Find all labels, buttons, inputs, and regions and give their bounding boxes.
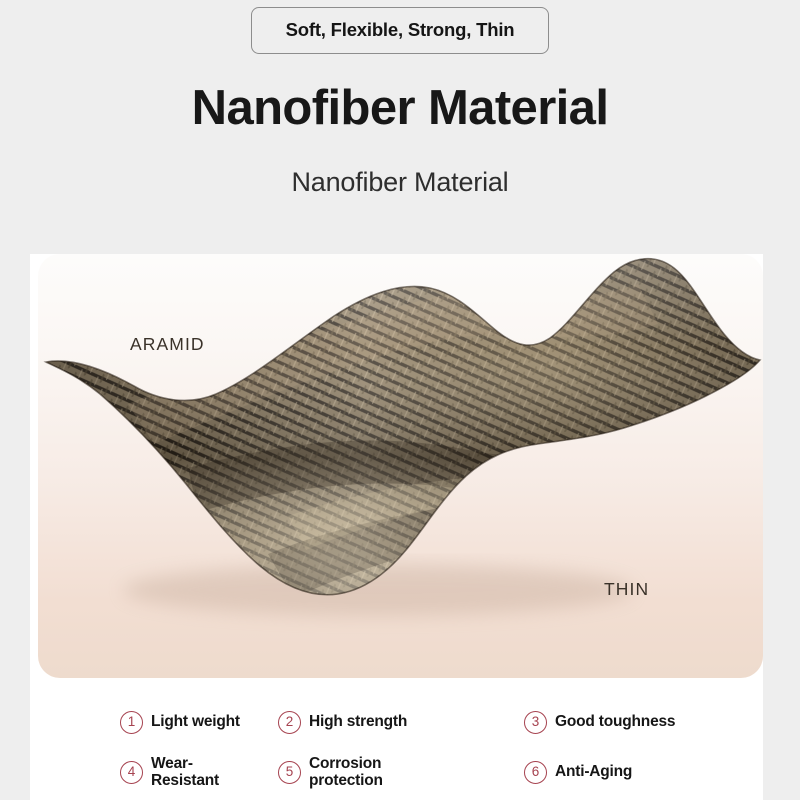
feature-number-badge: 5 bbox=[278, 761, 301, 784]
feature-label: Light weight bbox=[151, 713, 240, 730]
feature-label: Wear-Resistant bbox=[151, 755, 258, 790]
tagline-badge: Soft, Flexible, Strong, Thin bbox=[251, 7, 550, 54]
features-row-1: 1 Light weight 2 High strength 3 Good to… bbox=[30, 698, 763, 746]
nanofiber-fabric-illustration bbox=[38, 254, 763, 678]
page-subtitle: Nanofiber Material bbox=[0, 167, 800, 198]
feature-item-4: 4 Wear-Resistant bbox=[30, 748, 258, 796]
feature-item-3: 3 Good toughness bbox=[506, 698, 763, 746]
feature-number-badge: 6 bbox=[524, 761, 547, 784]
feature-number-badge: 2 bbox=[278, 711, 301, 734]
feature-item-5: 5 Corrosion protection bbox=[258, 748, 506, 796]
features-section: 1 Light weight 2 High strength 3 Good to… bbox=[30, 686, 763, 800]
feature-label: High strength bbox=[309, 713, 407, 730]
feature-label: Anti-Aging bbox=[555, 763, 632, 780]
feature-number-badge: 4 bbox=[120, 761, 143, 784]
page-title: Nanofiber Material bbox=[0, 80, 800, 136]
feature-number-badge: 1 bbox=[120, 711, 143, 734]
features-row-2: 4 Wear-Resistant 5 Corrosion protection … bbox=[30, 748, 763, 796]
feature-label: Corrosion protection bbox=[309, 755, 419, 790]
feature-number-badge: 3 bbox=[524, 711, 547, 734]
label-thin: THIN bbox=[604, 579, 649, 600]
hero-card: ARAMID THIN bbox=[38, 254, 763, 678]
feature-item-1: 1 Light weight bbox=[30, 698, 258, 746]
feature-label: Good toughness bbox=[555, 713, 675, 730]
badge-container: Soft, Flexible, Strong, Thin bbox=[0, 7, 800, 54]
feature-item-6: 6 Anti-Aging bbox=[506, 748, 763, 796]
label-aramid: ARAMID bbox=[130, 334, 205, 355]
feature-item-2: 2 High strength bbox=[258, 698, 506, 746]
